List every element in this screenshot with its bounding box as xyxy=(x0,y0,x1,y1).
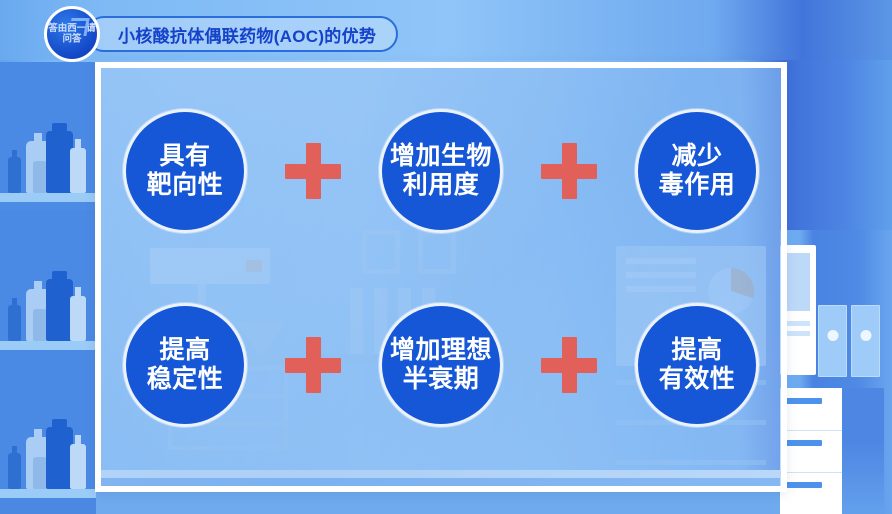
shelf-row xyxy=(0,210,96,350)
drawer-handle-icon xyxy=(786,398,822,404)
logo-arrow-mark xyxy=(68,18,89,36)
advantage-bubble-toxicity[interactable]: 减少 毒作用 xyxy=(635,109,759,233)
bottle-icon xyxy=(70,148,86,193)
bottle-icon xyxy=(33,309,47,341)
advantage-row-1: 具有 靶向性 增加生物 利用度 减少 毒作用 xyxy=(123,96,759,246)
bottle-icon xyxy=(33,161,47,193)
content-panel: 具有 靶向性 增加生物 利用度 减少 毒作用 提高 稳定性 xyxy=(95,62,787,492)
bottle-icon xyxy=(8,453,21,489)
bottle-icon xyxy=(46,279,73,341)
title-pill: 小核酸抗体偶联药物(AOC)的优势 xyxy=(86,16,398,52)
shelf-row xyxy=(0,358,96,498)
plus-icon xyxy=(541,143,597,199)
bottle-icon xyxy=(33,457,47,489)
bubble-line: 增加生物 xyxy=(390,142,492,171)
bubble-line: 增加理想 xyxy=(390,336,492,365)
bottle-icon xyxy=(46,131,73,193)
bubble-line: 减少 xyxy=(671,142,722,171)
drawer-cabinet xyxy=(780,388,842,514)
page-title: 小核酸抗体偶联药物(AOC)的优势 xyxy=(118,22,376,47)
drawer-divider xyxy=(780,472,842,473)
advantage-row-2: 提高 稳定性 增加理想 半衰期 提高 有效性 xyxy=(123,290,759,440)
advantage-bubble-bioavailability[interactable]: 增加生物 利用度 xyxy=(379,109,503,233)
bubble-line: 稳定性 xyxy=(147,365,224,394)
bubble-line: 半衰期 xyxy=(403,365,480,394)
binder-icon xyxy=(818,305,847,377)
slide-canvas: 具有 靶向性 增加生物 利用度 减少 毒作用 提高 稳定性 xyxy=(0,0,892,514)
advantage-bubble-efficacy[interactable]: 提高 有效性 xyxy=(635,303,759,427)
drawer-handle-icon xyxy=(786,440,822,446)
bubble-line: 具有 xyxy=(159,142,210,171)
bottle-icon xyxy=(46,427,73,489)
title-bar: 答由西一请问答 小核酸抗体偶联药物(AOC)的优势 xyxy=(44,12,398,56)
document-line xyxy=(784,321,810,326)
bottle-icon xyxy=(8,305,21,341)
bubble-line: 有效性 xyxy=(659,365,736,394)
binder-icon xyxy=(851,305,880,377)
plus-icon xyxy=(541,337,597,393)
cabinet-side xyxy=(842,388,884,514)
advantages-grid: 具有 靶向性 增加生物 利用度 减少 毒作用 提高 稳定性 xyxy=(101,68,781,486)
bubble-line: 提高 xyxy=(671,336,722,365)
lab-shelf-unit xyxy=(0,62,96,514)
bubble-line: 提高 xyxy=(159,336,210,365)
bubble-line: 毒作用 xyxy=(659,171,736,200)
bottle-icon xyxy=(70,296,86,341)
document-icon xyxy=(784,253,810,311)
plus-icon xyxy=(285,143,341,199)
bottle-icon xyxy=(70,444,86,489)
bubble-line: 利用度 xyxy=(403,171,480,200)
bubble-line: 靶向性 xyxy=(147,171,224,200)
document-line xyxy=(784,331,810,336)
advantage-bubble-stability[interactable]: 提高 稳定性 xyxy=(123,303,247,427)
program-logo: 答由西一请问答 xyxy=(44,6,100,62)
drawer-handle-icon xyxy=(786,482,822,488)
shelf-row xyxy=(0,62,96,202)
advantage-bubble-target-specificity[interactable]: 具有 靶向性 xyxy=(123,109,247,233)
plus-icon xyxy=(285,337,341,393)
drawer-divider xyxy=(780,430,842,431)
bottle-icon xyxy=(8,157,21,193)
advantage-bubble-half-life[interactable]: 增加理想 半衰期 xyxy=(379,303,503,427)
